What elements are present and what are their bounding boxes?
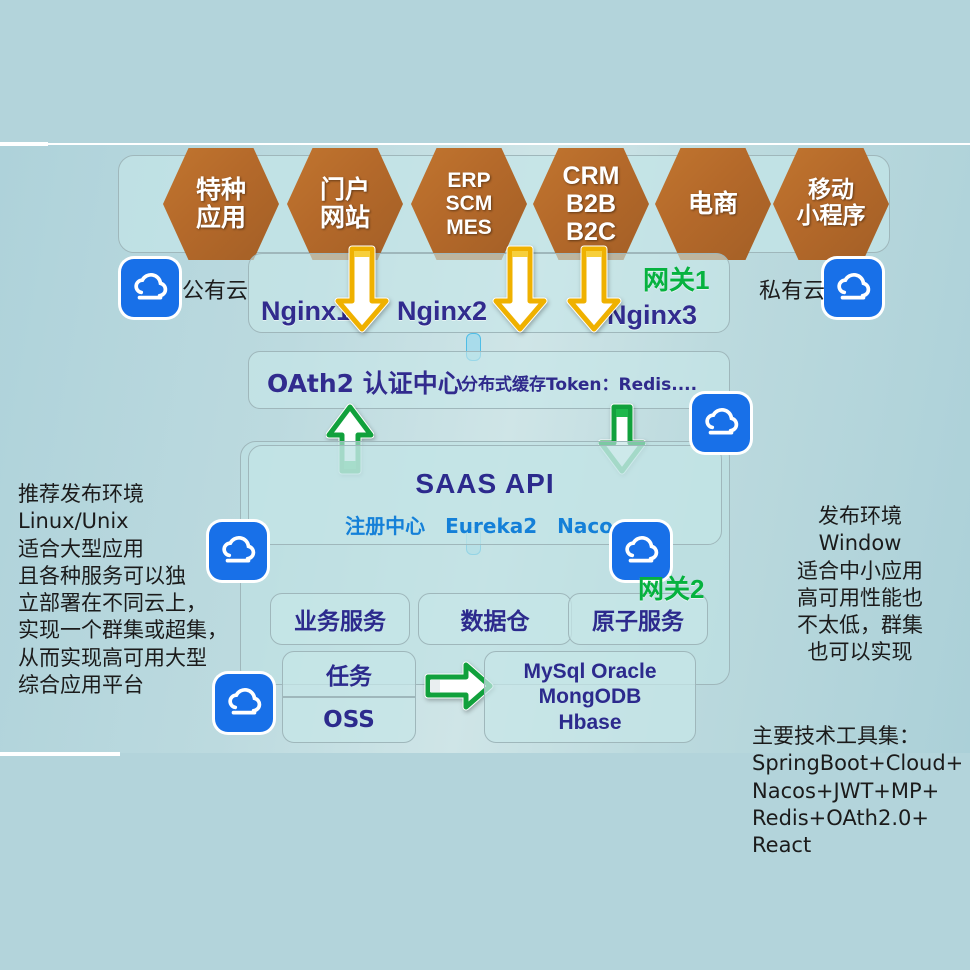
app-hex-ecommerce-line1: 电商	[688, 190, 738, 218]
service-box-datawarehouse[interactable]: 数据仓	[418, 593, 572, 645]
app-hex-crm-line3: B2C	[563, 218, 620, 246]
down-arrow-yellow-1	[334, 245, 390, 333]
redis-cache-note: 分布式缓存Token：Redis....	[461, 370, 697, 395]
app-hex-mobile-line2: 小程序	[797, 204, 866, 230]
database-line-3: Hbase	[558, 710, 621, 736]
app-hex-portal[interactable]: 门户网站	[287, 148, 403, 260]
cloud-glyph	[129, 271, 171, 305]
application-layer-panel: 特种应用 门户网站 ERPSCMMES CRMB2BB2C 电商 移动小程序	[118, 155, 890, 253]
app-hex-erp[interactable]: ERPSCMMES	[411, 148, 527, 260]
app-hex-mobile[interactable]: 移动小程序	[773, 148, 889, 260]
app-hex-crm-line1: CRM	[563, 162, 620, 190]
public-cloud-icon[interactable]	[121, 259, 179, 317]
note-tech-stack: 主要技术工具集： SpringBoot+Cloud+ Nacos+JWT+MP+…	[752, 723, 967, 859]
slide-area: 特种应用 门户网站 ERPSCMMES CRMB2BB2C 电商 移动小程序	[0, 145, 970, 753]
diagram-canvas: 特种应用 门户网站 ERPSCMMES CRMB2BB2C 电商 移动小程序	[0, 0, 970, 970]
private-cloud-icon[interactable]	[824, 259, 882, 317]
auth-cloud-icon[interactable]	[692, 394, 750, 452]
app-hex-erp-line3: MES	[446, 216, 493, 240]
app-hex-portal-line1: 门户	[320, 176, 370, 204]
gateway1-label: 网关1	[643, 260, 709, 297]
cloud-glyph	[700, 406, 742, 440]
auth-layer-panel: OAth2 认证中心 分布式缓存Token：Redis....	[248, 351, 730, 409]
app-hex-portal-line2: 网站	[320, 204, 370, 232]
app-hex-special-line1: 特种	[196, 176, 246, 204]
database-line-2: MongODB	[539, 684, 642, 710]
registry-item-eureka2: Eureka2	[445, 514, 537, 538]
app-hex-ecommerce[interactable]: 电商	[655, 148, 771, 260]
private-cloud-label: 私有云	[759, 273, 825, 305]
gateway-layer-panel: Nginx1 Nginx2 Nginx3 网关1	[248, 253, 730, 333]
oss-box[interactable]: OSS	[282, 697, 416, 743]
nginx2-label[interactable]: Nginx2	[397, 296, 487, 327]
app-hex-crm[interactable]: CRMB2BB2C	[533, 148, 649, 260]
app-hex-mobile-line1: 移动	[797, 178, 866, 204]
application-hexagon-row: 特种应用 门户网站 ERPSCMMES CRMB2BB2C 电商 移动小程序	[119, 156, 889, 252]
registry-center-label: 注册中心	[345, 514, 425, 538]
down-arrow-yellow-2	[492, 245, 548, 333]
cloud-glyph	[832, 271, 874, 305]
gateway2-label: 网关2	[638, 569, 704, 606]
oauth2-title: OAth2 认证中心	[267, 364, 463, 400]
database-line-1: MySql Oracle	[523, 659, 656, 685]
app-hex-erp-line2: SCM	[446, 192, 493, 216]
database-box[interactable]: MySql Oracle MongODB Hbase	[484, 651, 696, 743]
note-left-environment: 推荐发布环境 Linux/Unix 适合大型应用 且各种服务可以独 立部署在不同…	[18, 481, 233, 699]
note-right-environment: 发布环境 Window 适合中小应用 高可用性能也 不太低，群集 也可以实现	[760, 503, 960, 667]
app-hex-erp-line1: ERP	[446, 169, 493, 193]
saas-api-title: SAAS API	[249, 468, 721, 500]
task-box[interactable]: 任务	[282, 651, 416, 697]
app-hex-crm-line2: B2B	[563, 190, 620, 218]
service-box-business[interactable]: 业务服务	[270, 593, 410, 645]
public-cloud-label: 公有云	[182, 273, 248, 305]
cloud-glyph	[620, 534, 662, 568]
app-hex-special-line2: 应用	[196, 204, 246, 232]
down-arrow-yellow-3	[566, 245, 622, 333]
app-hex-special[interactable]: 特种应用	[163, 148, 279, 260]
